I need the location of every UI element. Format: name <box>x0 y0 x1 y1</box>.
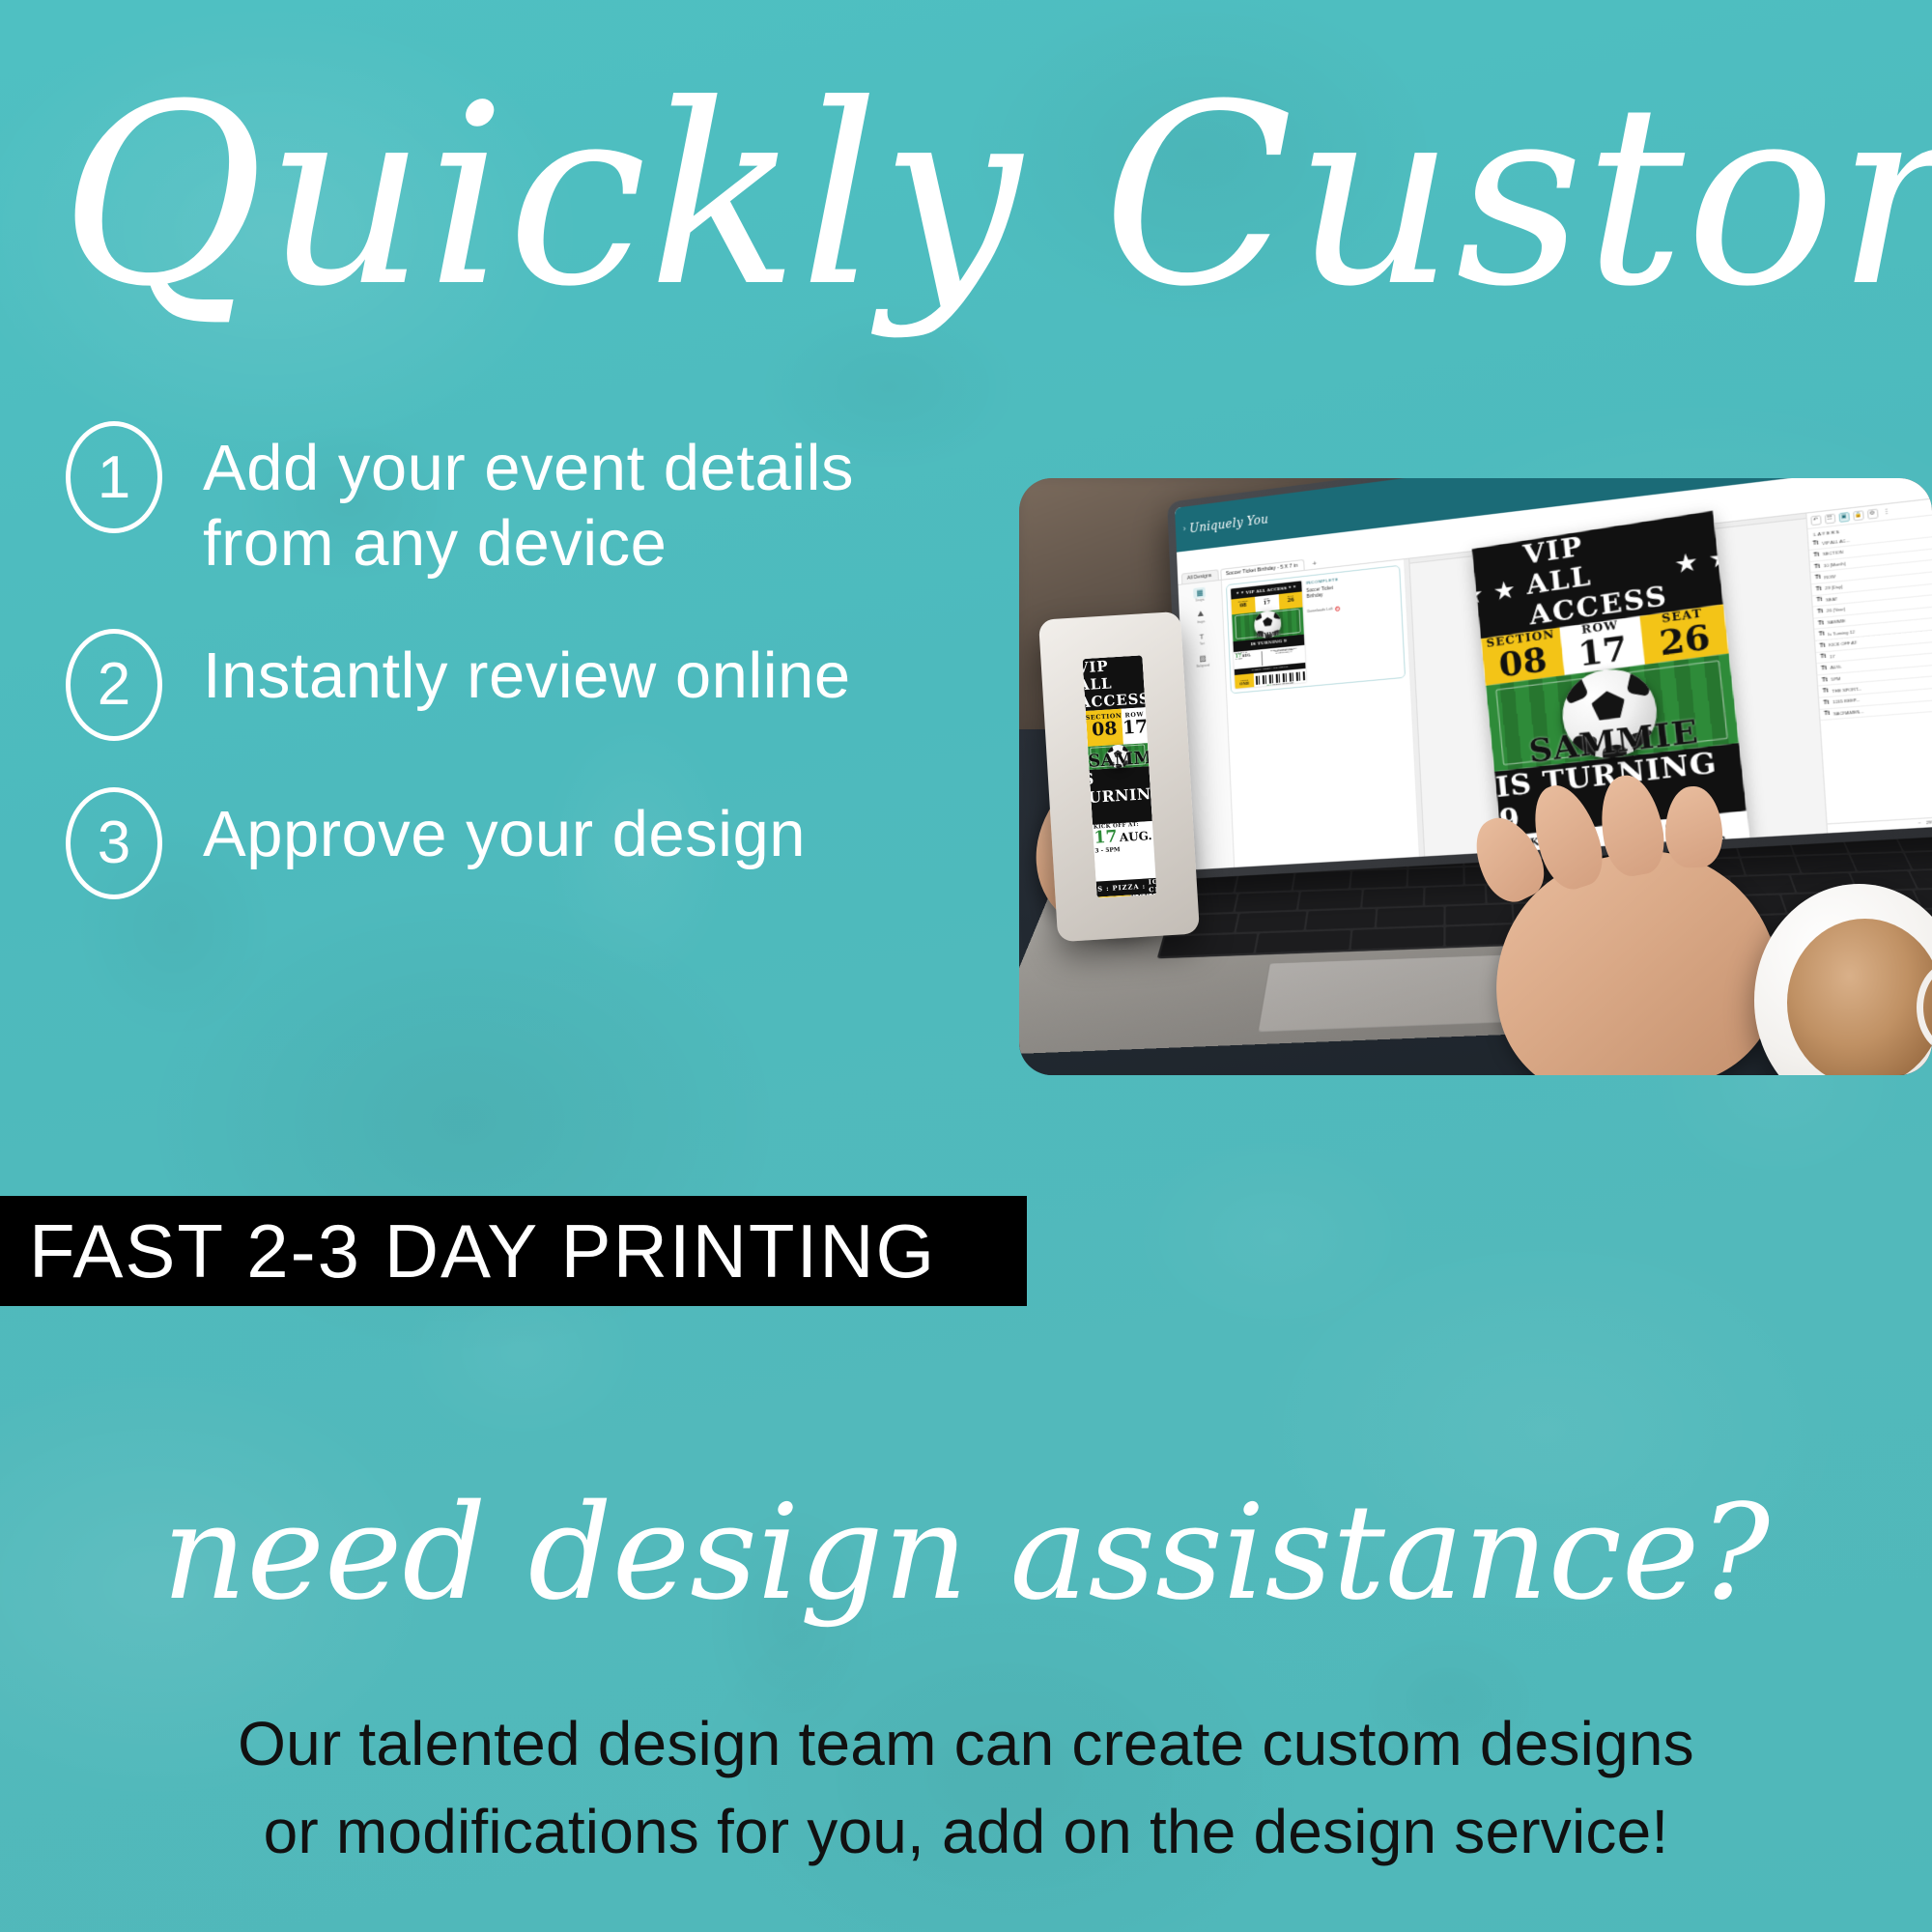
step-label: Add your event details from any device <box>203 417 854 582</box>
layers-icon[interactable]: ▣ <box>1838 511 1850 522</box>
seat-value: 26 <box>1658 618 1712 661</box>
footer-paragraph: Our talented design team can create cust… <box>0 1700 1932 1876</box>
keyboard-key[interactable] <box>1376 906 1443 927</box>
star-icon: ★ <box>1236 590 1239 594</box>
activity-item: GAMES <box>1252 668 1261 671</box>
ticket-name: SAMMIE <box>1088 750 1149 770</box>
barcode-icon <box>1132 893 1157 898</box>
ticket-vip-text: VIP ALL ACCESS <box>1246 584 1288 594</box>
list-item: 3 Approve your design <box>66 783 867 899</box>
text-layer-icon: Tt <box>1815 574 1821 581</box>
text-layer-icon: Tt <box>1817 608 1823 614</box>
text-layer-icon: Tt <box>1821 665 1827 671</box>
ticket-barcode-area: RSVP: MICHELLE 303-555-2389 <box>1130 893 1156 898</box>
background-icon: ▨ <box>1197 652 1209 664</box>
ticket-vip-header: ★ ★ VIP ALL ACCESS ★ ★ <box>1082 655 1146 711</box>
tool-label: Designs <box>1196 598 1205 602</box>
admit-one-stub: ADMIT ONE <box>1235 673 1255 688</box>
rsvp-value: MICHELLE 303-555-2389 <box>1272 683 1293 686</box>
text-icon: T <box>1196 630 1208 641</box>
text-layer-icon: Tt <box>1820 641 1826 648</box>
keyboard-key[interactable] <box>1159 933 1257 956</box>
app-logo: Uniquely You <box>1189 512 1268 535</box>
ticket-row: ROW 17 <box>1122 707 1149 745</box>
promo-banner-text: FAST 2-3 DAY PRINTING <box>0 1207 936 1295</box>
product-photo: › Uniquely You All Designs Soccer Ticket… <box>1019 478 1932 1075</box>
keyboard-key[interactable] <box>1350 869 1406 889</box>
text-layer-icon: Tt <box>1814 562 1820 569</box>
star-icon: ★ <box>1154 673 1156 688</box>
star-icon: ★ <box>1493 575 1518 603</box>
tool-label: Background <box>1197 664 1210 668</box>
activity-item: GAMES <box>1082 885 1103 895</box>
seat-value: 26 <box>1287 598 1294 604</box>
text-layer-icon: Tt <box>1817 596 1823 603</box>
step-label: Approve your design <box>203 783 806 872</box>
star-icon: ★ <box>1709 541 1735 570</box>
text-layer-icon: Tt <box>1820 653 1826 660</box>
star-icon: ★ <box>1289 584 1292 588</box>
keyboard-key[interactable] <box>1796 855 1856 873</box>
phone-screen[interactable]: ★ ★ VIP ALL ACCESS ★ ★ SECTION 08 ROW 17… <box>1082 655 1156 898</box>
templates-icon: ▦ <box>1194 586 1207 598</box>
tool-background[interactable]: ▨ Background <box>1196 652 1209 668</box>
text-layer-icon: Tt <box>1823 688 1829 695</box>
tool-label: Text <box>1200 641 1205 644</box>
promo-banner: FAST 2-3 DAY PRINTING <box>0 1196 1027 1306</box>
keyboard-key[interactable] <box>1293 871 1350 891</box>
ticket-when: KICK OFF AT: 17 AUG. 3 - 5PM <box>1094 821 1157 880</box>
zoom-level: 29% <box>1926 819 1932 825</box>
text-layer-icon: Tt <box>1813 552 1819 558</box>
more-icon[interactable]: ⋮ <box>1881 506 1892 517</box>
text-layer-icon: Tt <box>1824 710 1830 717</box>
activity-item: PIZZA <box>1113 883 1140 893</box>
ticket-section: SECTION 08 <box>1086 708 1124 747</box>
text-layer-icon: Tt <box>1816 585 1822 592</box>
undo-icon[interactable]: ↶ <box>1810 514 1822 525</box>
activity-item: ICE CREAM <box>1273 666 1288 668</box>
tool-designs[interactable]: ▦ Designs <box>1194 586 1207 602</box>
tool-label: Images <box>1197 619 1205 623</box>
event-day: 17 <box>1094 830 1118 848</box>
downloads-left: Downloads Left 0 <box>1307 600 1397 614</box>
row-value: 17 <box>1264 601 1270 607</box>
keyboard-key[interactable] <box>1236 911 1306 932</box>
text-layer-icon: Tt <box>1822 676 1828 683</box>
ticket-info: KICK OFF AT: 17 AUG. 3 - 5PM THE SPORTS … <box>1093 821 1156 882</box>
ticket-seat-row: SECTION 08 ROW 17 SEAT 26 <box>1086 707 1149 747</box>
ticket-vip-text: VIP ALL ACCESS <box>1082 655 1151 711</box>
downloads-left-label: Downloads Left <box>1307 607 1333 613</box>
tool-text[interactable]: T Text <box>1196 630 1208 645</box>
text-layer-icon: Tt <box>1813 540 1819 547</box>
row-value: 17 <box>1122 719 1149 739</box>
align-icon[interactable]: ☷ <box>1824 513 1835 524</box>
event-month: AUG. <box>1120 831 1152 844</box>
tool-images[interactable]: ⛰ Images <box>1195 608 1207 623</box>
text-layer-icon: Tt <box>1824 698 1830 705</box>
image-icon: ⛰ <box>1195 608 1207 619</box>
star-icon: ★ <box>1674 547 1699 576</box>
zoom-out-button[interactable]: − <box>1918 819 1921 825</box>
page-title: Quickly Customize <box>60 71 1895 361</box>
keyboard-key[interactable] <box>1851 853 1912 871</box>
ticket-when: KICK OFF AT: 17 AUG. 3 - 5PM <box>1236 650 1264 668</box>
steps-list: 1 Add your event details from any device… <box>66 417 867 942</box>
section-value: 08 <box>1497 641 1548 682</box>
gear-icon[interactable]: ⚙ <box>1866 508 1878 519</box>
ticket-turning: IS TURNING 9 <box>1089 766 1152 825</box>
smartphone: ★ ★ VIP ALL ACCESS ★ ★ SECTION 08 ROW 17… <box>1038 611 1201 942</box>
keyboard-key[interactable] <box>1306 909 1376 930</box>
star-icon: ★ <box>1241 590 1244 594</box>
footer-script-heading: need design assistance? <box>0 1488 1932 1619</box>
ticket-preview: ★ ★ VIP ALL ACCESS ★ ★ SECTION 08 ROW 17… <box>1231 580 1307 688</box>
design-list: ★ ★ VIP ALL ACCESS ★ ★ SECTION 08 ROW 17… <box>1222 558 1420 867</box>
chevron-right-icon: › <box>1183 525 1186 533</box>
section-value: 08 <box>1239 603 1246 609</box>
downloads-left-count: 0 <box>1335 606 1340 611</box>
list-item: 2 Instantly review online <box>66 625 867 741</box>
keyboard-key[interactable] <box>1742 857 1801 876</box>
activity-item: ICE CREAM <box>1149 876 1157 894</box>
keyboard-key[interactable] <box>1407 867 1463 887</box>
keyboard-key[interactable] <box>1235 873 1293 893</box>
row-value: 17 <box>1577 630 1630 671</box>
ticket-design-mobile: ★ ★ VIP ALL ACCESS ★ ★ SECTION 08 ROW 17… <box>1082 655 1156 898</box>
add-tab-button[interactable]: + <box>1306 557 1322 569</box>
keyboard-key[interactable] <box>1235 892 1299 912</box>
text-layer-icon: Tt <box>1818 619 1824 626</box>
keyboard-key[interactable] <box>1361 888 1423 908</box>
activity-separator: : <box>1106 885 1110 893</box>
rsvp-label: RSVP: <box>1267 685 1272 686</box>
seat-value: 26 <box>1148 717 1157 737</box>
layers-panel: ↶ ☷ ▣ 🔒 ⚙ ⋮ LAYERS TtVIP ALL AC...□Ὕ1TtS… <box>1805 489 1932 833</box>
keyboard-key[interactable] <box>1298 890 1361 910</box>
step-label: Instantly review online <box>203 625 851 714</box>
lock-icon[interactable]: 🔒 <box>1853 509 1864 520</box>
keyboard-key[interactable] <box>1445 904 1512 925</box>
layers-list[interactable]: TtVIP ALL AC...□Ὕ1TtSECTION□Ὕ1Tt10 (Mont… <box>1808 516 1932 822</box>
ticket-seat: SEAT 26 <box>1147 705 1157 743</box>
star-icon: ★ <box>1293 584 1296 588</box>
keyboard-key[interactable] <box>1425 886 1486 906</box>
text-layer-icon: Tt <box>1819 631 1825 638</box>
keyboard-key[interactable] <box>1255 930 1350 953</box>
activity-separator: : <box>1143 882 1147 890</box>
venue-name: THE SPORTS STALL <box>1155 818 1157 849</box>
list-item: 1 Add your event details from any device <box>66 417 867 582</box>
step-number-badge: 2 <box>66 629 162 741</box>
admit-count: ONE <box>1240 681 1250 686</box>
activity-item: PIZZA <box>1264 668 1271 670</box>
star-icon: ★ <box>1472 580 1486 608</box>
event-month: AUG. <box>1242 653 1251 657</box>
keyboard-key[interactable] <box>1350 927 1443 951</box>
design-thumbnail: ★ ★ VIP ALL ACCESS ★ ★ SECTION 08 ROW 17… <box>1231 580 1307 688</box>
design-card[interactable]: ★ ★ VIP ALL ACCESS ★ ★ SECTION 08 ROW 17… <box>1226 564 1406 694</box>
step-number-badge: 3 <box>66 787 162 899</box>
seat-label: SEAT <box>1150 711 1157 719</box>
step-number-badge: 1 <box>66 421 162 533</box>
soccer-field-graphic: SAMMIE <box>1088 743 1150 769</box>
section-value: 08 <box>1092 721 1118 741</box>
